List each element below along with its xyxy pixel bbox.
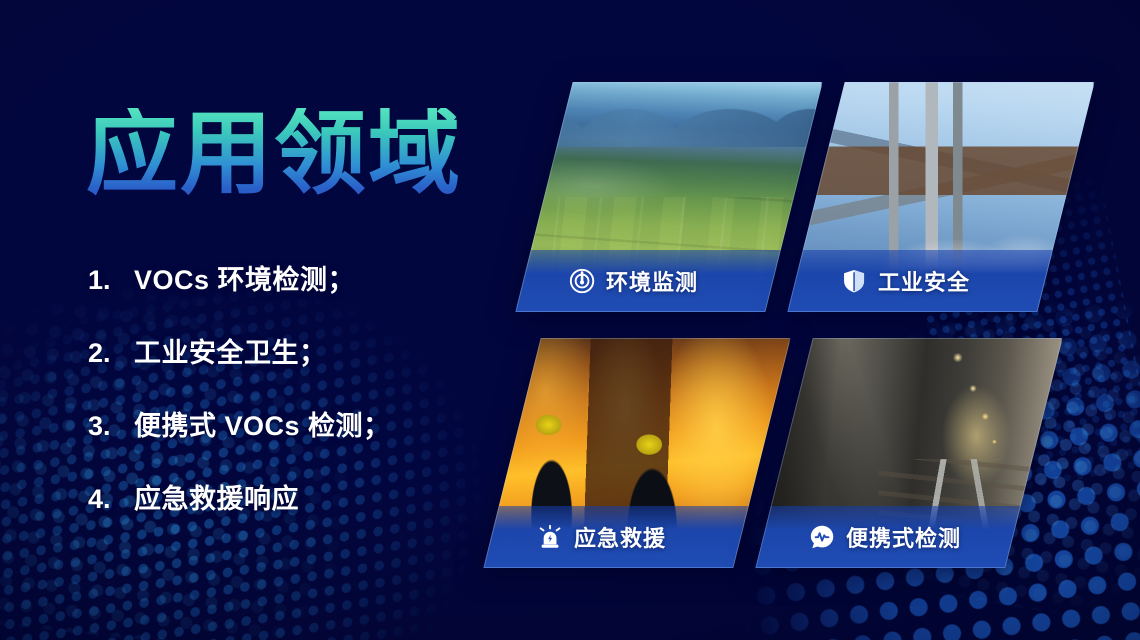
text-column: 应用领域 1. VOCs 环境检测； 2. 工业安全卫生； 3. 便携式 VOC…	[0, 0, 500, 640]
list-item: 2. 工业安全卫生；	[88, 331, 488, 370]
card-portable-detection[interactable]: 便携式检测	[755, 338, 1062, 568]
card-label-text: 环境监测	[606, 265, 698, 297]
list-item: 1. VOCs 环境检测；	[88, 258, 488, 297]
shield-icon	[841, 268, 867, 294]
application-list: 1. VOCs 环境检测； 2. 工业安全卫生； 3. 便携式 VOCs 检测；…	[88, 258, 488, 550]
list-item-label: 应急救援响应	[134, 477, 299, 516]
list-item-number: 4.	[88, 484, 134, 515]
list-item-label: VOCs 环境检测；	[134, 258, 355, 297]
list-item: 4. 应急救援响应	[88, 477, 488, 516]
page-title: 应用领域	[86, 108, 462, 200]
card-label-text: 便携式检测	[846, 521, 961, 553]
card-environmental-monitoring[interactable]: 环境监测	[515, 82, 822, 312]
card-label-bar: 便携式检测	[755, 506, 1020, 568]
emergency-siren-icon	[537, 524, 563, 550]
list-item-number: 2.	[88, 338, 134, 369]
list-item-number: 3.	[88, 411, 134, 442]
card-label-bar: 应急救援	[483, 506, 748, 568]
list-item-label: 工业安全卫生；	[134, 331, 327, 370]
pulse-waveform-icon	[809, 524, 835, 550]
card-emergency-rescue[interactable]: 应急救援	[483, 338, 790, 568]
card-label-bar: 环境监测	[515, 250, 780, 312]
card-industrial-safety[interactable]: 工业安全	[787, 82, 1094, 312]
card-label-bar: 工业安全	[787, 250, 1052, 312]
list-item-label: 便携式 VOCs 检测；	[134, 404, 391, 443]
card-label-text: 工业安全	[878, 265, 970, 297]
power-monitor-icon	[569, 268, 595, 294]
slide-canvas: 应用领域 1. VOCs 环境检测； 2. 工业安全卫生； 3. 便携式 VOC…	[0, 0, 1140, 640]
card-label-text: 应急救援	[574, 521, 666, 553]
list-item: 3. 便携式 VOCs 检测；	[88, 404, 488, 443]
list-item-number: 1.	[88, 265, 134, 296]
